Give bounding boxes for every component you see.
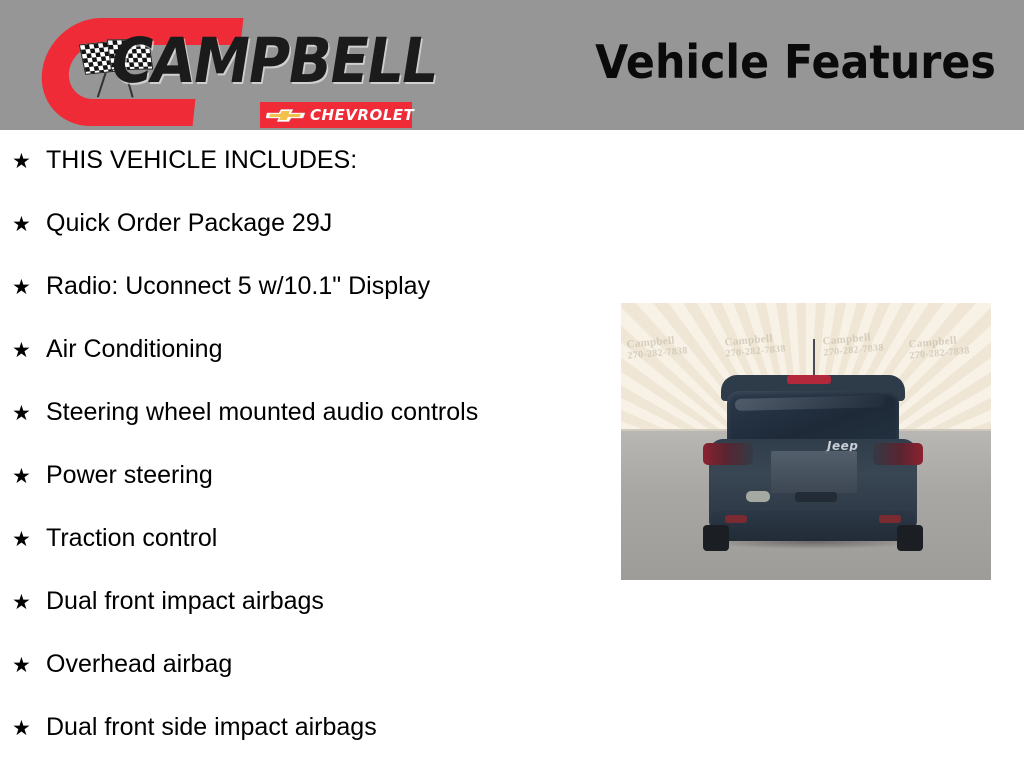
star-bullet-icon: ★ — [12, 651, 46, 681]
page-title: Vehicle Features — [595, 36, 996, 88]
vehicle-taillight-left — [703, 443, 753, 465]
star-bullet-icon: ★ — [12, 336, 46, 366]
star-bullet-icon: ★ — [12, 399, 46, 429]
vehicle-bumper-reflector-left — [725, 515, 747, 523]
list-item: ★ Overhead airbag — [12, 649, 612, 712]
list-item-label: Radio: Uconnect 5 w/10.1" Display — [46, 271, 430, 301]
vehicle-photo[interactable]: Campbell 270-282-7838 Campbell 270-282-7… — [621, 303, 991, 580]
list-item: ★ Steering wheel mounted audio controls — [12, 397, 612, 460]
list-item-label: Air Conditioning — [46, 334, 223, 364]
list-item-label: Dual front impact airbags — [46, 586, 324, 616]
logo-red-bottom-bar — [123, 99, 196, 126]
list-item: ★ Quick Order Package 29J — [12, 208, 612, 271]
vehicle-license-plate-area — [771, 451, 857, 493]
list-item: ★ Air Conditioning — [12, 334, 612, 397]
star-bullet-icon: ★ — [12, 147, 46, 177]
star-bullet-icon: ★ — [12, 462, 46, 492]
vehicle-antenna — [813, 339, 815, 377]
list-item: ★ Radio: Uconnect 5 w/10.1" Display — [12, 271, 612, 334]
list-item: ★ THIS VEHICLE INCLUDES: — [12, 145, 612, 208]
chevrolet-banner-text: CHEVROLET — [310, 106, 414, 124]
dealer-name-wordmark: CAMPBELL — [106, 30, 441, 92]
star-bullet-icon: ★ — [12, 588, 46, 618]
list-item-label: THIS VEHICLE INCLUDES: — [46, 145, 357, 175]
vehicle-tailgate-handle — [795, 492, 837, 502]
vehicle-taillight-right — [873, 443, 923, 465]
star-bullet-icon: ★ — [12, 210, 46, 240]
list-item: ★ Dual front impact airbags — [12, 586, 612, 649]
list-item: ★ Power steering — [12, 460, 612, 523]
dealer-logo[interactable]: CAMPBELL CHEVROLET — [38, 8, 388, 126]
vehicle-model-emblem — [746, 491, 770, 502]
vehicle-rear-view: Jeep — [699, 339, 927, 545]
list-item: ★ Dual front side impact airbags — [12, 712, 612, 775]
vehicle-features-list: ★ THIS VEHICLE INCLUDES: ★ Quick Order P… — [12, 145, 612, 775]
list-item-label: Steering wheel mounted audio controls — [46, 397, 478, 427]
star-bullet-icon: ★ — [12, 525, 46, 555]
list-item-label: Dual front side impact airbags — [46, 712, 377, 742]
star-bullet-icon: ★ — [12, 273, 46, 303]
vehicle-high-mount-brake-light — [787, 375, 831, 384]
vehicle-tire-left — [703, 525, 729, 551]
chevrolet-bowtie-icon — [266, 108, 306, 123]
list-item: ★ Traction control — [12, 523, 612, 586]
list-item-label: Quick Order Package 29J — [46, 208, 332, 238]
star-bullet-icon: ★ — [12, 714, 46, 744]
vehicle-bumper-reflector-right — [879, 515, 901, 523]
list-item-label: Power steering — [46, 460, 213, 490]
chevrolet-banner: CHEVROLET — [260, 102, 412, 128]
vehicle-tire-right — [897, 525, 923, 551]
list-item-label: Overhead airbag — [46, 649, 232, 679]
list-item-label: Traction control — [46, 523, 217, 553]
